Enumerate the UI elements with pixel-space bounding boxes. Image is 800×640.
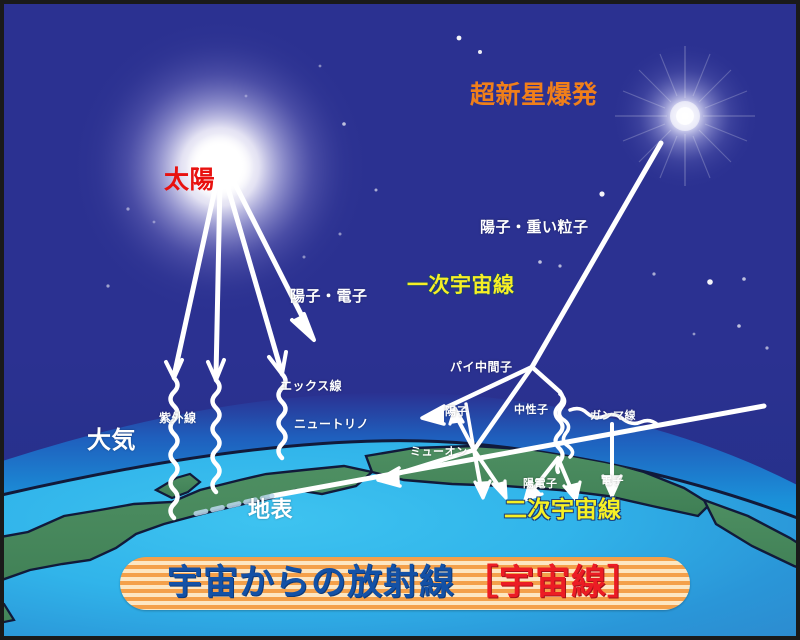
label-positron: 陽電子 xyxy=(523,478,558,489)
label-supernova: 超新星爆発 xyxy=(470,82,598,107)
title-main: 宇宙からの放射線 xyxy=(167,566,455,601)
label-electron: 電子 xyxy=(601,475,624,486)
title-banner: 宇宙からの放射線 ［宇宙線］ xyxy=(120,557,690,610)
label-primary-cosmic-ray: 一次宇宙線 xyxy=(407,275,515,296)
label-atmosphere: 大気 xyxy=(87,428,136,452)
label-muon: ミューオン xyxy=(410,446,468,457)
supernova xyxy=(611,42,759,190)
label-proton-electron: 陽子・電子 xyxy=(290,289,368,304)
label-x-ray: エックス線 xyxy=(280,380,342,392)
cosmic-ray-diagram: 太陽 超新星爆発 陽子・重い粒子 一次宇宙線 二次宇宙線 陽子・電子 エックス線… xyxy=(0,0,800,640)
label-proton: 陽子 xyxy=(445,406,468,417)
label-neutron: 中性子 xyxy=(514,404,549,415)
label-neutrino: ニュートリノ xyxy=(294,418,369,430)
label-incoming-particles: 陽子・重い粒子 xyxy=(480,220,589,235)
title-bracket: ［宇宙線］ xyxy=(463,566,643,601)
diagram-canvas xyxy=(4,4,800,640)
label-pion: パイ中間子 xyxy=(450,361,513,373)
label-ultraviolet: 紫外線 xyxy=(159,412,197,424)
label-gamma-ray: ガンマ線 xyxy=(590,410,636,421)
label-sun: 太陽 xyxy=(164,167,215,192)
label-ground-surface: 地表 xyxy=(248,500,293,522)
label-secondary-cosmic-ray: 二次宇宙線 xyxy=(504,499,622,522)
